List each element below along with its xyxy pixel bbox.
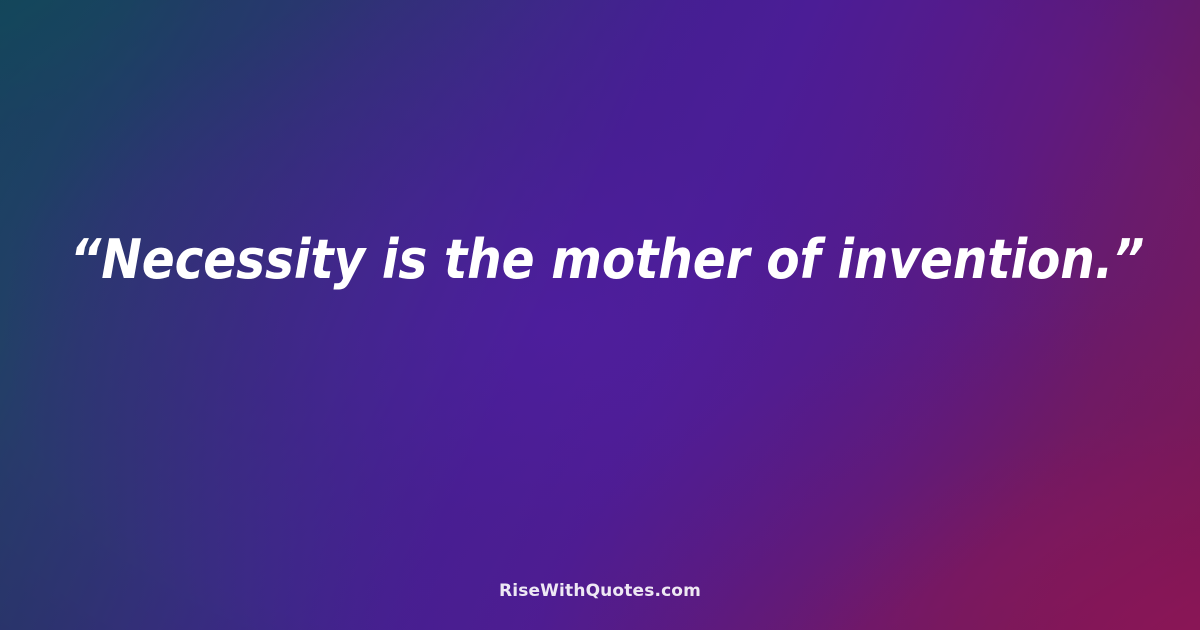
quote-card: “Necessity is the mother of invention.” … <box>0 0 1200 630</box>
quote-text: “Necessity is the mother of invention.” <box>70 228 1130 292</box>
site-credit: RiseWithQuotes.com <box>499 581 701 601</box>
card-content: “Necessity is the mother of invention.” … <box>0 0 1200 630</box>
